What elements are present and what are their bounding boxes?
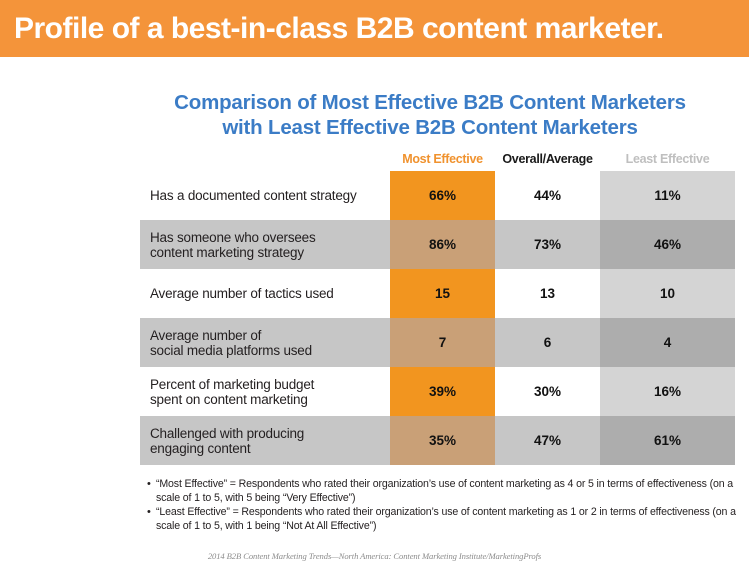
- cell-most-effective: 35%: [390, 416, 495, 465]
- cell-least-effective: 61%: [600, 416, 735, 465]
- row-label-line-1: Challenged with producing: [150, 426, 304, 441]
- column-header-least-effective: Least Effective: [600, 152, 735, 171]
- row-label-line-2: social media platforms used: [150, 343, 312, 358]
- row-label: Average number of social media platforms…: [140, 318, 390, 367]
- footnote-item: • “Most Effective” = Respondents who rat…: [147, 478, 737, 505]
- column-header-most-effective: Most Effective: [390, 152, 495, 171]
- cell-overall-average: 30%: [495, 367, 600, 416]
- row-label: Average number of tactics used: [140, 269, 390, 318]
- row-label: Has someone who oversees content marketi…: [140, 220, 390, 269]
- row-label-line-2: spent on content marketing: [150, 392, 308, 407]
- column-header-metric: [140, 152, 390, 171]
- cell-least-effective: 11%: [600, 171, 735, 220]
- cell-least-effective: 16%: [600, 367, 735, 416]
- row-label-line-2: content marketing strategy: [150, 245, 304, 260]
- cell-most-effective: 86%: [390, 220, 495, 269]
- table-row: Average number of social media platforms…: [140, 318, 735, 367]
- table-body: Has a documented content strategy 66% 44…: [140, 171, 735, 465]
- cell-least-effective: 10: [600, 269, 735, 318]
- column-header-overall-average: Overall/Average: [495, 152, 600, 171]
- table-row: Average number of tactics used 15 13 10: [140, 269, 735, 318]
- cell-least-effective: 46%: [600, 220, 735, 269]
- table-header-row: Most Effective Overall/Average Least Eff…: [140, 152, 735, 171]
- cell-most-effective: 66%: [390, 171, 495, 220]
- header-banner: Profile of a best-in-class B2B content m…: [0, 0, 749, 57]
- row-label-line-1: Has a documented content strategy: [150, 188, 357, 203]
- source-citation: 2014 B2B Content Marketing Trends—North …: [0, 551, 749, 561]
- table-row: Has a documented content strategy 66% 44…: [140, 171, 735, 220]
- chart-title: Comparison of Most Effective B2B Content…: [120, 90, 740, 140]
- cell-most-effective: 39%: [390, 367, 495, 416]
- row-label-line-2: engaging content: [150, 441, 250, 456]
- row-label-line-1: Average number of: [150, 328, 261, 343]
- cell-most-effective: 15: [390, 269, 495, 318]
- bullet-icon: •: [147, 478, 156, 505]
- cell-overall-average: 47%: [495, 416, 600, 465]
- footnote-text: “Least Effective” = Respondents who rate…: [156, 506, 737, 533]
- row-label: Challenged with producing engaging conte…: [140, 416, 390, 465]
- cell-overall-average: 13: [495, 269, 600, 318]
- table-row: Percent of marketing budget spent on con…: [140, 367, 735, 416]
- cell-least-effective: 4: [600, 318, 735, 367]
- footnote-item: • “Least Effective” = Respondents who ra…: [147, 506, 737, 533]
- row-label-line-1: Percent of marketing budget: [150, 377, 314, 392]
- comparison-table: Most Effective Overall/Average Least Eff…: [140, 152, 735, 465]
- chart-title-line-2: with Least Effective B2B Content Markete…: [120, 115, 740, 140]
- row-label-line-1: Has someone who oversees: [150, 230, 316, 245]
- cell-overall-average: 73%: [495, 220, 600, 269]
- page-title: Profile of a best-in-class B2B content m…: [14, 12, 664, 46]
- table-row: Challenged with producing engaging conte…: [140, 416, 735, 465]
- chart-title-line-1: Comparison of Most Effective B2B Content…: [120, 90, 740, 115]
- cell-overall-average: 44%: [495, 171, 600, 220]
- cell-most-effective: 7: [390, 318, 495, 367]
- cell-overall-average: 6: [495, 318, 600, 367]
- table-row: Has someone who oversees content marketi…: [140, 220, 735, 269]
- footnotes: • “Most Effective” = Respondents who rat…: [147, 478, 737, 534]
- row-label-line-1: Average number of tactics used: [150, 286, 334, 301]
- row-label: Percent of marketing budget spent on con…: [140, 367, 390, 416]
- footnote-text: “Most Effective” = Respondents who rated…: [156, 478, 737, 505]
- row-label: Has a documented content strategy: [140, 171, 390, 220]
- bullet-icon: •: [147, 506, 156, 533]
- comparison-table-wrapper: Most Effective Overall/Average Least Eff…: [140, 152, 735, 465]
